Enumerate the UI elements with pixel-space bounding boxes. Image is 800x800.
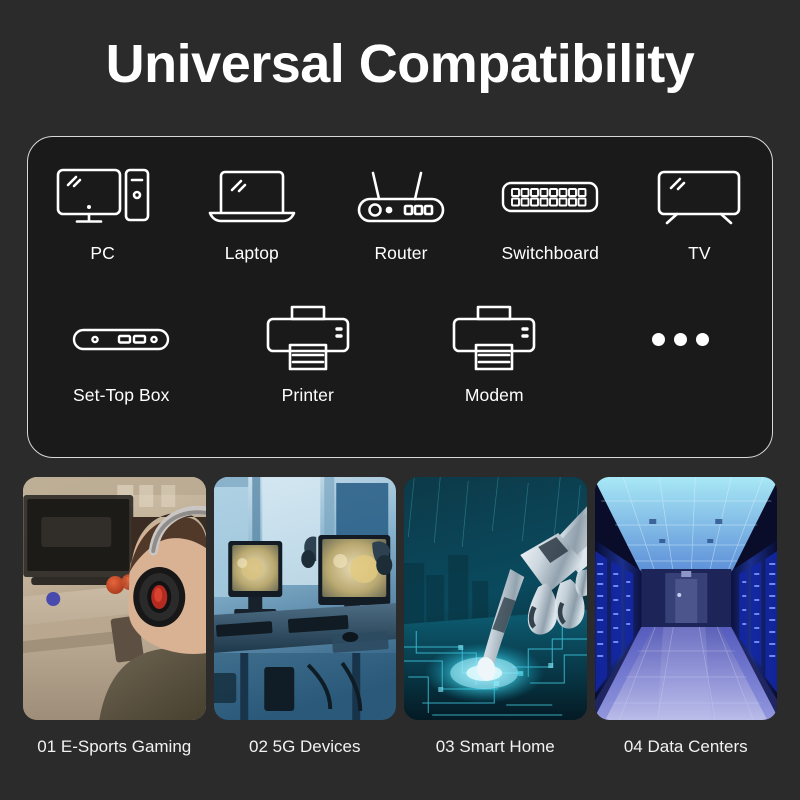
router-icon xyxy=(353,161,449,233)
ellipsis-dot xyxy=(652,333,665,346)
compat-item-router[interactable]: Router xyxy=(326,161,475,264)
computer-lab-photo xyxy=(214,477,397,720)
showcase-caption: 01 E-Sports Gaming xyxy=(23,730,206,764)
promo-graphic: Universal Compatibility xyxy=(0,0,800,800)
compatibility-panel: PC Laptop xyxy=(27,136,773,458)
showcase-card[interactable] xyxy=(23,477,206,720)
compat-item-label: Modem xyxy=(465,385,524,406)
showcase-card[interactable] xyxy=(595,477,778,720)
compat-item-set-top-box[interactable]: Set-Top Box xyxy=(28,303,215,406)
showcase-caption: 02 5G Devices xyxy=(214,730,397,764)
compat-item-printer[interactable]: Printer xyxy=(215,303,402,406)
showcase-caption: 04 Data Centers xyxy=(595,730,778,764)
compat-item-label: Router xyxy=(374,243,427,264)
showcase-card[interactable] xyxy=(214,477,397,720)
compatibility-row-2: Set-Top Box Printer xyxy=(28,303,774,406)
compat-item-modem[interactable]: Modem xyxy=(401,303,588,406)
compat-item-label: TV xyxy=(688,243,711,264)
page-title: Universal Compatibility xyxy=(0,36,800,93)
compat-item-pc[interactable]: PC xyxy=(28,161,177,264)
desktop-pc-icon xyxy=(55,161,151,233)
showcase-caption: 03 Smart Home xyxy=(404,730,587,764)
data-center-corridor-photo xyxy=(595,477,778,720)
compat-item-label: Laptop xyxy=(225,243,279,264)
showcase-card-list xyxy=(23,477,777,720)
set-top-box-icon xyxy=(71,303,171,375)
laptop-icon xyxy=(206,161,298,233)
compat-item-more[interactable] xyxy=(588,303,775,406)
compat-item-tv[interactable]: TV xyxy=(625,161,774,264)
modem-icon xyxy=(448,303,540,375)
tv-icon xyxy=(655,161,743,233)
compat-item-label: Set-Top Box xyxy=(73,385,169,406)
showcase-card[interactable] xyxy=(404,477,587,720)
ellipsis-dot xyxy=(696,333,709,346)
ellipsis-icon xyxy=(652,303,709,375)
compat-item-laptop[interactable]: Laptop xyxy=(177,161,326,264)
compat-item-label: Switchboard xyxy=(502,243,599,264)
compat-item-switchboard[interactable]: Switchboard xyxy=(476,161,625,264)
compat-item-label: Printer xyxy=(282,385,334,406)
gamer-with-headset-photo xyxy=(23,477,206,720)
showcase-caption-list: 01 E-Sports Gaming 02 5G Devices 03 Smar… xyxy=(23,730,777,764)
compat-item-label: PC xyxy=(90,243,115,264)
ellipsis-dot xyxy=(674,333,687,346)
compatibility-row-1: PC Laptop xyxy=(28,161,774,264)
robot-hand-circuit-photo xyxy=(404,477,587,720)
switchboard-icon xyxy=(500,161,600,233)
printer-icon xyxy=(262,303,354,375)
